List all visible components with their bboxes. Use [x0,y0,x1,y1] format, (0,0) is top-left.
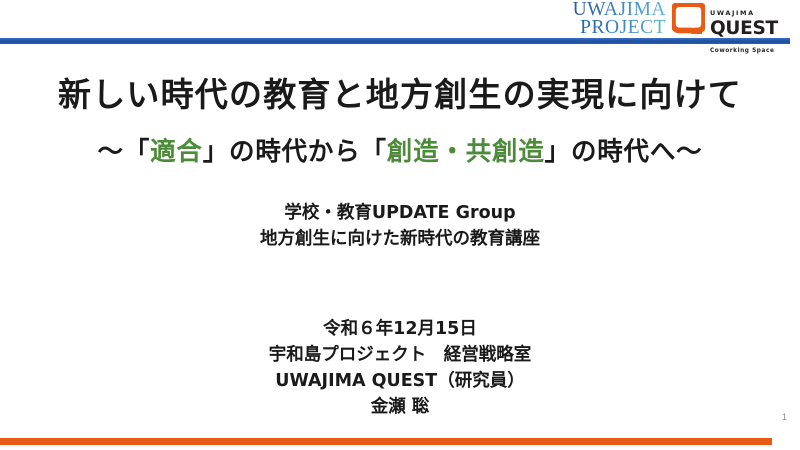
subtitle-part-4: 」の時代へ〜 [545,137,703,167]
subtitle-part-0: 〜「 [98,137,151,167]
organization-line-2: 地方創生に向けた新時代の教育講座 [0,226,800,252]
slide-subtitle: 〜「適合」の時代から「創造・共創造」の時代へ〜 [0,131,800,168]
footer-divider-rule [0,438,772,445]
quest-wordmark: UWAJIMA QUEST Coworking Space [710,2,800,57]
page-number: 1 [782,412,787,422]
presenter-department: 宇和島プロジェクト 経営戦略室 [0,342,800,368]
organization-block: 学校・教育UPDATE Group 地方創生に向けた新時代の教育講座 [0,200,800,252]
presenter-affiliation: UWAJIMA QUEST（研究員） [0,368,800,394]
quest-wordmark-top: UWAJIMA [710,9,755,17]
subtitle-part-3: 創造・共創造 [387,137,545,167]
quest-wordmark-main: QUEST [710,18,778,39]
slide-title: 新しい時代の教育と地方創生の実現に向けて [0,68,800,116]
presenter-block: 令和６年12月15日 宇和島プロジェクト 経営戦略室 UWAJIMA QUEST… [0,316,800,420]
subtitle-part-1: 適合 [150,137,203,167]
header-logo-group: UWAJIMA PROJECT UWAJIMA QUEST Coworking … [552,0,800,38]
uwajima-project-logo: UWAJIMA PROJECT [552,0,666,37]
speech-bubble-q-icon [672,3,705,34]
presentation-date: 令和６年12月15日 [0,316,800,342]
quest-wordmark-tagline: Coworking Space [710,48,774,54]
uwajima-project-logo-line2: PROJECT [552,19,666,37]
presenter-name: 金瀬 聡 [0,394,800,420]
uwajima-quest-logo: UWAJIMA QUEST Coworking Space [672,0,800,38]
organization-line-1: 学校・教育UPDATE Group [0,200,800,226]
header-divider-rule [0,38,790,44]
slide-canvas: UWAJIMA PROJECT UWAJIMA QUEST Coworking … [0,0,800,450]
subtitle-part-2: 」の時代から「 [203,137,387,167]
